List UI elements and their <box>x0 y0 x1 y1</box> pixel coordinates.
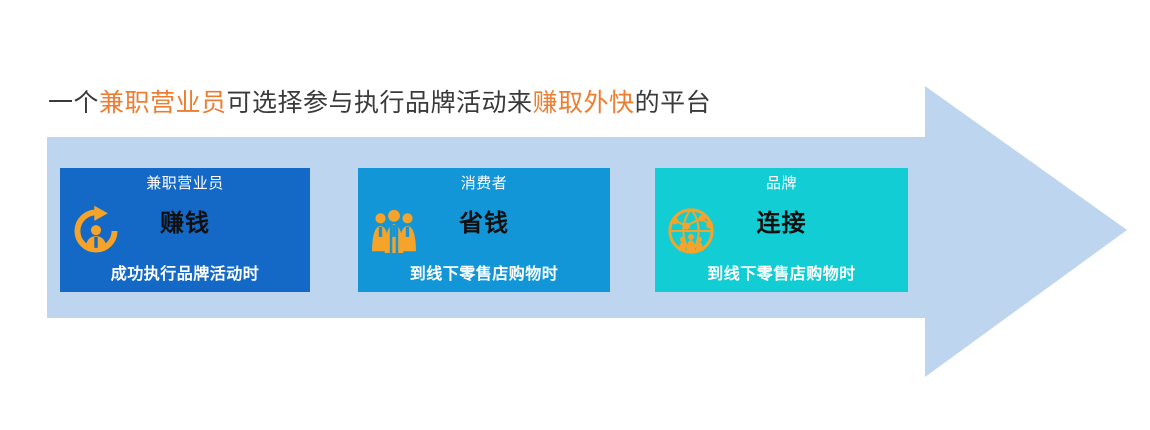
card-footer-label: 到线下零售店购物时 <box>655 264 908 286</box>
value-card-part-time-clerk[interactable]: 兼职营业员 赚钱 成功执行品牌活动时 <box>60 168 310 292</box>
title-segment-4-highlight: 赚取外快 <box>533 90 635 117</box>
card-footer-label: 成功执行品牌活动时 <box>60 264 310 286</box>
card-footer-label: 到线下零售店购物时 <box>358 264 610 286</box>
card-header-label: 兼职营业员 <box>60 174 310 194</box>
page-title: 一个兼职营业员可选择参与执行品牌活动来赚取外快的平台 <box>48 88 711 120</box>
slide-canvas: 一个兼职营业员可选择参与执行品牌活动来赚取外快的平台 兼职营业员 赚钱 成功执行… <box>0 0 1150 430</box>
title-segment-1: 一个 <box>48 90 99 117</box>
card-headline: 赚钱 <box>60 208 310 240</box>
value-cards-row: 兼职营业员 赚钱 成功执行品牌活动时 消费者 <box>60 168 908 292</box>
card-headline: 省钱 <box>358 208 610 240</box>
value-card-brand[interactable]: 品牌 <box>655 168 908 292</box>
title-segment-3: 可选择参与执行品牌活动来 <box>227 90 533 117</box>
title-segment-5: 的平台 <box>635 90 712 117</box>
title-segment-2-highlight: 兼职营业员 <box>99 90 227 117</box>
card-headline: 连接 <box>655 208 908 240</box>
value-card-consumer[interactable]: 消费者 省钱 <box>358 168 610 292</box>
card-header-label: 消费者 <box>358 174 610 194</box>
card-header-label: 品牌 <box>655 174 908 194</box>
